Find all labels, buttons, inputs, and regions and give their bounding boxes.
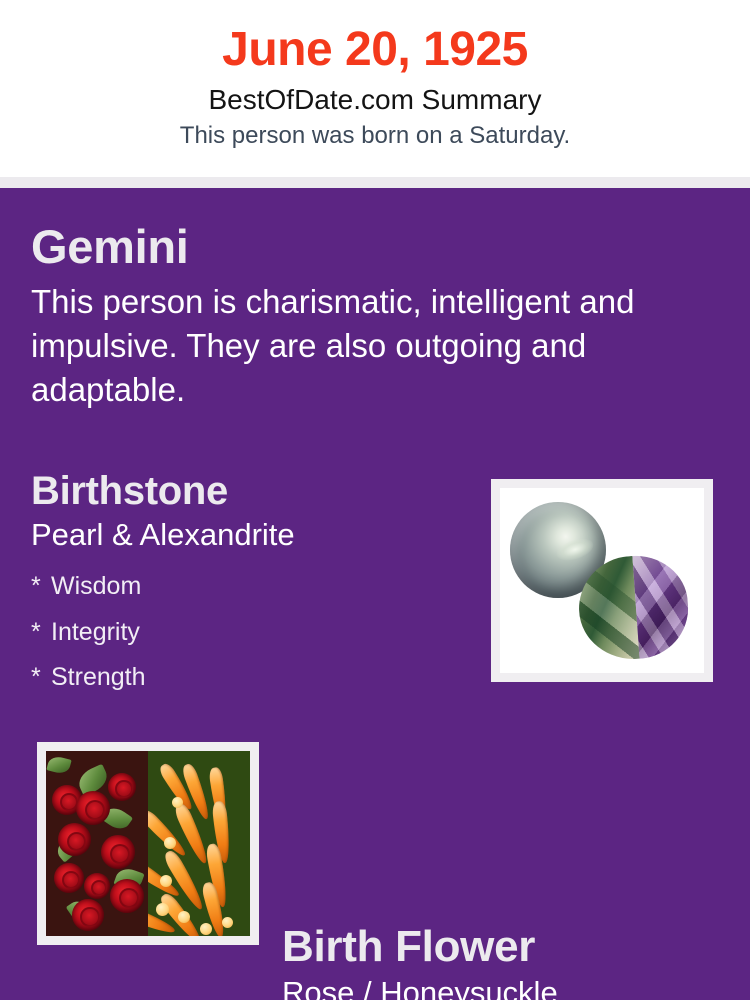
honeysuckle-photo-half: [148, 751, 250, 936]
alexandrite-icon: [576, 552, 692, 662]
birth-flower-heading: Birth Flower: [282, 923, 722, 971]
alexandrite-faceted-half: [632, 552, 691, 658]
page-title-date: June 20, 1925: [0, 22, 750, 78]
birthstone-image: [500, 488, 704, 673]
birthstone-heading: Birthstone: [31, 469, 471, 513]
zodiac-section: Gemini This person is charismatic, intel…: [31, 221, 721, 412]
birth-flower-name: Rose / Honeysuckle: [282, 974, 722, 1000]
header: June 20, 1925 BestOfDate.com Summary Thi…: [0, 0, 750, 177]
birthstone-section: Birthstone Pearl & Alexandrite *Wisdom *…: [31, 469, 471, 701]
birthstone-trait-label: Wisdom: [51, 572, 141, 600]
list-item: *Wisdom: [31, 564, 471, 610]
birthstone-trait-label: Strength: [51, 663, 146, 691]
birth-day-of-week-text: This person was born on a Saturday.: [0, 122, 750, 151]
birthstone-name: Pearl & Alexandrite: [31, 516, 471, 553]
birth-flower-section: Birth Flower Rose / Honeysuckle *Romance…: [282, 923, 722, 1000]
list-item: *Strength: [31, 655, 471, 701]
birthstone-trait-label: Integrity: [51, 618, 140, 646]
header-divider: [0, 177, 750, 188]
alexandrite-rough-half: [576, 556, 640, 663]
asterisk-icon: *: [31, 564, 51, 610]
zodiac-sign-heading: Gemini: [31, 221, 721, 274]
birth-flower-image-frame: [37, 742, 259, 945]
infographic-card: June 20, 1925 BestOfDate.com Summary Thi…: [0, 0, 750, 1000]
asterisk-icon: *: [31, 610, 51, 656]
asterisk-icon: *: [31, 655, 51, 701]
site-name: BestOfDate.com Summary: [0, 83, 750, 117]
zodiac-description: This person is charismatic, intelligent …: [31, 280, 699, 413]
birthstone-traits-list: *Wisdom *Integrity *Strength: [31, 564, 471, 701]
birthstone-image-frame: [491, 479, 713, 682]
rose-photo-half: [46, 751, 148, 936]
birth-flower-image: [46, 751, 250, 936]
list-item: *Integrity: [31, 610, 471, 656]
